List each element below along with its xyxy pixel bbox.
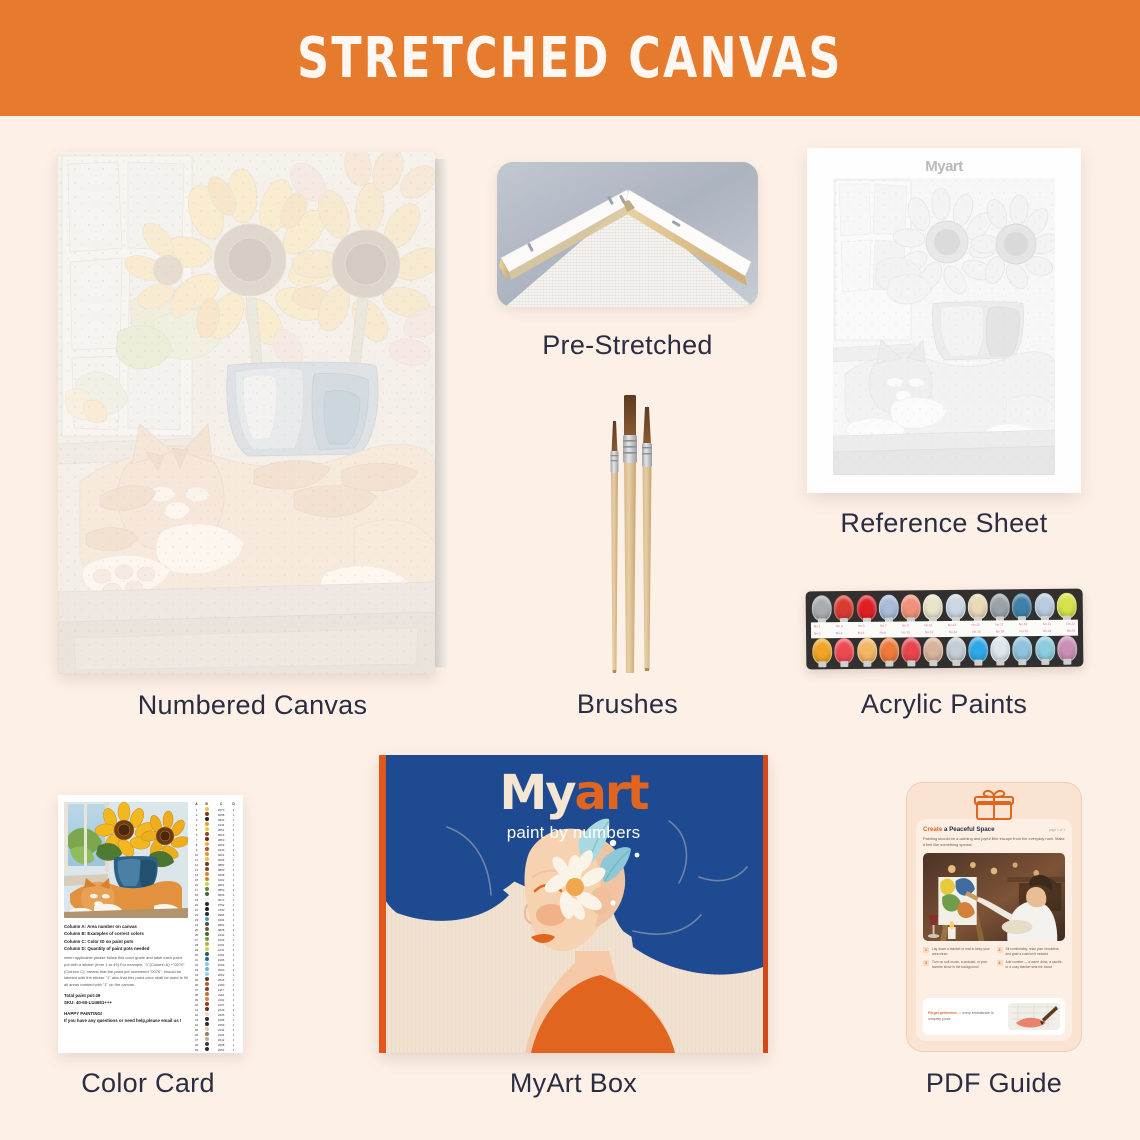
myart-box-front: Myart paint by numbers <box>379 755 768 1053</box>
pre-stretched-photo <box>497 162 758 307</box>
color-card-legend: Column A: Area number on canvas Column B… <box>64 923 188 1024</box>
paint-pot-row-top <box>812 593 1077 623</box>
color-swatch <box>205 1032 209 1036</box>
pdf-tip-text: Sit comfortably, relax your shoulders, a… <box>1006 947 1066 957</box>
color-card-happy-painting: HAPPY PAINTING! <box>64 1010 188 1017</box>
paint-code-label: No.13 <box>948 623 956 628</box>
color-swatch <box>205 817 209 821</box>
color-swatch <box>205 972 209 976</box>
color-swatch <box>205 852 209 856</box>
color-swatch <box>205 947 209 951</box>
paint-pot <box>1012 593 1032 619</box>
color-swatch <box>205 862 209 866</box>
canvas-front-face <box>58 152 435 674</box>
paint-code-label: No.1 <box>814 624 821 629</box>
pdf-guide-subtitle: Painting should be a calming and joyful … <box>923 836 1065 848</box>
pdf-note-text: Forget perfection — every brushstroke is… <box>928 1011 1003 1022</box>
color-swatch <box>205 987 209 991</box>
color-swatch <box>205 877 209 881</box>
color-card-color-id: 2062 <box>212 1047 230 1052</box>
logo-art-text: art <box>575 765 648 821</box>
myart-box-tagline: paint by numbers <box>379 823 768 843</box>
brushes-illustration <box>580 385 676 675</box>
paint-code-label: No.19 <box>1019 622 1027 627</box>
pdf-guide-page-number: page 1 of 1 <box>1049 828 1065 832</box>
color-swatch <box>205 917 209 921</box>
paint-pot <box>812 595 832 621</box>
color-swatch <box>205 847 209 851</box>
reference-sheet-logo: Myart <box>807 158 1081 175</box>
paint-code-label: No.24 <box>1067 629 1075 634</box>
pdf-title-accent: Create <box>923 826 942 833</box>
pdf-title-rest: a Peaceful Space <box>942 826 994 833</box>
pdf-tip-item: 4Add comfort — a warm drink, a candle, o… <box>997 960 1066 970</box>
paint-pot <box>1035 636 1055 662</box>
pdf-guide-title: Create a Peaceful Space <box>923 826 995 833</box>
pdf-guide-note: Forget perfection — every brushstroke is… <box>923 998 1065 1035</box>
pdf-tip-number: 4 <box>997 960 1003 966</box>
paint-pot <box>901 637 921 663</box>
paint-code-label: No.15 <box>971 623 979 628</box>
color-swatch <box>205 952 209 956</box>
legend-column-a: Column A: Area number on canvas <box>64 923 188 930</box>
paint-pot <box>1057 593 1077 619</box>
legend-column-c: Column C: Color ID on paint pots <box>64 938 188 945</box>
color-swatch <box>205 1002 209 1006</box>
color-card-row: 4920621 <box>192 1047 237 1052</box>
color-swatch <box>205 997 209 1001</box>
pdf-guide-product: Create a Peaceful Space page 1 of 1 Pain… <box>906 782 1082 1052</box>
label-myart-box: MyArt Box <box>379 1068 768 1099</box>
paint-pot <box>901 594 921 620</box>
color-swatch <box>205 992 209 996</box>
paint-code-label: No.2 <box>814 631 821 636</box>
reference-sheet-artwork <box>833 178 1055 475</box>
color-swatch <box>205 1047 209 1051</box>
pre-stretched-product <box>497 162 758 307</box>
label-color-card: Color Card <box>0 1068 308 1099</box>
gift-icon <box>907 789 1081 821</box>
color-swatch <box>205 1012 209 1016</box>
paint-pot <box>879 637 899 663</box>
color-card-total-paint-pot: Total paint pot:49 <box>64 992 188 999</box>
paint-pot <box>923 637 943 663</box>
color-swatch <box>205 892 209 896</box>
paint-pot <box>923 594 943 620</box>
pdf-tip-number: 1 <box>923 947 929 953</box>
color-swatch <box>205 887 209 891</box>
color-swatch <box>205 902 209 906</box>
acrylic-paints-product: No.1No.3No.5No.7No.9No.11No.13No.15No.17… <box>806 590 1083 668</box>
color-swatch <box>205 1027 209 1031</box>
paint-code-label: No.10 <box>902 630 910 635</box>
paint-pot <box>812 638 832 664</box>
color-swatch <box>205 867 209 871</box>
paint-code-label: No.18 <box>996 629 1004 634</box>
pdf-guide-card: Create a Peaceful Space page 1 of 1 Pain… <box>906 782 1082 1052</box>
color-card-quantity: 1 <box>230 1047 237 1052</box>
paint-pot <box>968 637 988 663</box>
color-swatch <box>205 837 209 841</box>
color-swatch <box>205 857 209 861</box>
pdf-tip-text: Turn on soft music, a podcast, or your f… <box>932 960 992 970</box>
reference-sheet-paper: Myart <box>807 148 1081 493</box>
label-brushes: Brushes <box>497 689 758 720</box>
color-swatch <box>205 977 209 981</box>
paint-pot <box>990 593 1010 619</box>
pdf-tip-number: 2 <box>997 947 1003 953</box>
color-card-area-number: 49 <box>192 1047 201 1052</box>
color-card-swatch-cell <box>201 1047 212 1052</box>
color-swatch <box>205 927 209 931</box>
pdf-tip-item: 3Turn on soft music, a podcast, or your … <box>923 960 992 970</box>
legend-column-b: Column B: Examples of correct colors <box>64 930 188 937</box>
paint-pot <box>967 594 987 620</box>
paint-code-label: No.21 <box>1043 622 1051 627</box>
paint-pot <box>1057 636 1077 662</box>
pdf-tip-text: Lay down a blanket or mat to keep your a… <box>932 947 992 957</box>
color-swatch <box>205 982 209 986</box>
color-card-sku: SKU: 40-50-LU4651+++ <box>64 999 188 1006</box>
legend-column-d: Column D: Quantity of paint pots needed <box>64 945 188 952</box>
paint-pot <box>946 637 966 663</box>
color-card-contact: If you have any questions or need help,p… <box>64 1017 188 1024</box>
label-reference-sheet: Reference Sheet <box>787 508 1101 539</box>
color-card-product: Column A: Area number on canvas Column B… <box>58 795 243 1053</box>
paint-code-label: No.20 <box>1019 629 1027 634</box>
paint-by-numbers-artwork <box>58 152 435 674</box>
label-pre-stretched: Pre-Stretched <box>497 330 758 361</box>
label-acrylic-paints: Acrylic Paints <box>787 689 1101 720</box>
color-swatch <box>205 907 209 911</box>
pdf-guide-header: Create a Peaceful Space page 1 of 1 <box>923 826 1065 833</box>
color-swatch <box>205 827 209 831</box>
color-card-left-column: Column A: Area number on canvas Column B… <box>64 802 188 1046</box>
color-swatch <box>205 1022 209 1026</box>
paint-code-label: No.23 <box>1067 622 1075 627</box>
color-swatch <box>205 1007 209 1011</box>
color-card-reference-photo <box>64 802 188 918</box>
paint-code-label: No.11 <box>924 623 932 628</box>
box-right-edge <box>763 755 768 1053</box>
paint-pot <box>834 595 854 621</box>
color-card-fine-print: when applicable please follow this color… <box>64 955 188 989</box>
pdf-tip-text: Add comfort — a warm drink, a candle, or… <box>1006 960 1066 970</box>
myart-box-product: Myart paint by numbers <box>379 755 768 1053</box>
paint-pot <box>878 594 898 620</box>
paint-pot <box>857 638 877 664</box>
paint-pot-row-bottom <box>812 636 1077 666</box>
color-swatch <box>205 912 209 916</box>
reference-sheet-product: Myart <box>807 148 1081 493</box>
color-swatch <box>205 1042 209 1046</box>
canvas-side-edge <box>434 159 447 667</box>
label-numbered-canvas: Numbered Canvas <box>58 690 447 721</box>
paint-code-label: No.6 <box>858 631 865 636</box>
paint-code-label: No.7 <box>880 624 887 629</box>
color-swatch <box>205 1017 209 1021</box>
color-swatch <box>205 812 209 816</box>
color-swatch <box>205 807 209 811</box>
paint-code-label: No.5 <box>858 624 865 629</box>
color-swatch <box>205 897 209 901</box>
color-swatch <box>205 832 209 836</box>
color-swatch <box>205 932 209 936</box>
brushes-product <box>580 385 676 675</box>
paint-pot <box>834 638 854 664</box>
logo-my-text: My <box>499 765 574 821</box>
paint-pot <box>990 636 1010 662</box>
paint-tray: No.1No.3No.5No.7No.9No.11No.13No.15No.17… <box>806 589 1084 670</box>
color-swatch <box>205 962 209 966</box>
color-card-table-column: ABCD 10070120098130932140134150651160516… <box>192 802 237 1046</box>
color-card-sheet: Column A: Area number on canvas Column B… <box>58 795 243 1053</box>
color-swatch <box>205 967 209 971</box>
color-swatch <box>205 957 209 961</box>
box-left-edge <box>379 755 386 1053</box>
pdf-tip-item: 1Lay down a blanket or mat to keep your … <box>923 947 992 957</box>
color-swatch <box>205 842 209 846</box>
pdf-guide-page: Create a Peaceful Space page 1 of 1 Pain… <box>916 819 1072 1041</box>
paint-code-label: No.9 <box>902 623 909 628</box>
paint-code-label: No.22 <box>1043 629 1051 634</box>
numbered-canvas-product <box>58 152 447 674</box>
color-card-table: ABCD 10070120098130932140134150651160516… <box>192 802 237 1052</box>
myart-box-logo: Myart <box>379 769 768 817</box>
paint-code-label: No.14 <box>949 630 957 635</box>
paint-code-label: No.16 <box>972 630 980 635</box>
pdf-tip-number: 3 <box>923 960 929 966</box>
pdf-guide-tips: 1Lay down a blanket or mat to keep your … <box>923 947 1065 970</box>
color-swatch <box>205 882 209 886</box>
pdf-guide-photo <box>923 853 1065 941</box>
paint-pot <box>1034 593 1054 619</box>
pdf-tip-item: 2Sit comfortably, relax your shoulders, … <box>997 947 1066 957</box>
page-header: STRETCHED CANVAS <box>0 0 1140 116</box>
paint-pot <box>1012 636 1032 662</box>
color-swatch <box>205 822 209 826</box>
paint-pot <box>856 595 876 621</box>
pdf-note-image <box>1008 1003 1060 1030</box>
paint-code-label: No.3 <box>836 624 843 629</box>
color-swatch <box>205 942 209 946</box>
color-swatch <box>205 922 209 926</box>
paint-code-label: No.4 <box>836 631 843 636</box>
paint-code-label: No.17 <box>995 622 1003 627</box>
paint-pot <box>945 594 965 620</box>
paint-code-label: No.8 <box>880 631 887 636</box>
paint-code-label: No.12 <box>925 630 933 635</box>
color-swatch <box>205 872 209 876</box>
color-swatch <box>205 1037 209 1041</box>
label-pdf-guide: PDF Guide <box>896 1068 1092 1099</box>
page-title: STRETCHED CANVAS <box>297 26 842 91</box>
pdf-note-accent: Forget perfection <box>928 1011 957 1015</box>
color-swatch <box>205 937 209 941</box>
